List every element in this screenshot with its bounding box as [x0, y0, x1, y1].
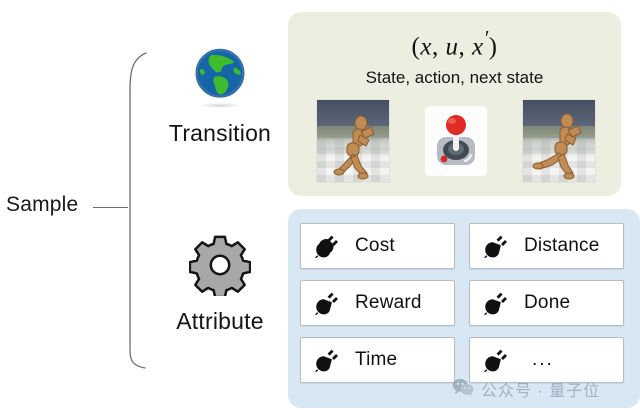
attribute-chip-label: Time [355, 349, 397, 371]
transition-formula: (x, u, x′) [288, 26, 621, 61]
watermark-text: 公众号 · 量子位 [481, 377, 600, 401]
attribute-chip-label: Reward [355, 292, 422, 314]
wechat-icon [452, 378, 474, 401]
humanoid-figure [317, 100, 390, 183]
formula-u: u [445, 33, 458, 60]
attribute-chip-time[interactable]: Time [300, 337, 455, 383]
transition-panel: (x, u, x′) State, action, next state [288, 12, 621, 196]
plug-icon [482, 233, 508, 259]
attribute-chip-done[interactable]: Done [469, 280, 624, 326]
transition-caption: State, action, next state [288, 68, 621, 88]
humanoid-figure [523, 100, 596, 183]
humanoid-next-state-image [522, 99, 596, 183]
plug-icon [482, 290, 508, 316]
joystick-action-icon [425, 106, 487, 176]
attribute-chip-reward[interactable]: Reward [300, 280, 455, 326]
gear-icon [189, 234, 251, 296]
formula-comma-2: , [458, 33, 472, 60]
attribute-chip-distance[interactable]: Distance [469, 223, 624, 269]
attribute-chip-label: Cost [355, 235, 395, 257]
attribute-chip-label: Distance [524, 235, 600, 257]
formula-close-paren: ) [489, 33, 498, 60]
branch-attribute-icon-slot [145, 228, 295, 302]
diagram-canvas: Sample Transition [0, 0, 640, 410]
attribute-chip-cost[interactable]: Cost [300, 223, 455, 269]
formula-x: x [420, 33, 432, 60]
attribute-chip-grid: Cost Distance [300, 223, 628, 383]
watermark: 公众号 · 量子位 [452, 377, 600, 401]
branch-attribute-label: Attribute [145, 308, 295, 335]
attribute-chip-label: ... [532, 349, 554, 371]
branch-attribute: Attribute [145, 228, 295, 335]
plug-icon [313, 347, 339, 373]
plug-icon [313, 233, 339, 259]
globe-shadow [197, 103, 243, 108]
branch-transition: Transition [145, 40, 295, 147]
formula-x-prime: x [472, 33, 484, 60]
branch-transition-label: Transition [145, 120, 295, 147]
formula-comma-1: , [432, 33, 446, 60]
globe-icon [191, 46, 249, 108]
root-label: Sample [6, 193, 78, 217]
plug-icon [482, 347, 508, 373]
branch-transition-icon-slot [145, 40, 295, 114]
plug-icon [313, 290, 339, 316]
attribute-chip-label: Done [524, 292, 570, 314]
humanoid-state-image [316, 99, 390, 183]
transition-image-strip [316, 98, 596, 184]
